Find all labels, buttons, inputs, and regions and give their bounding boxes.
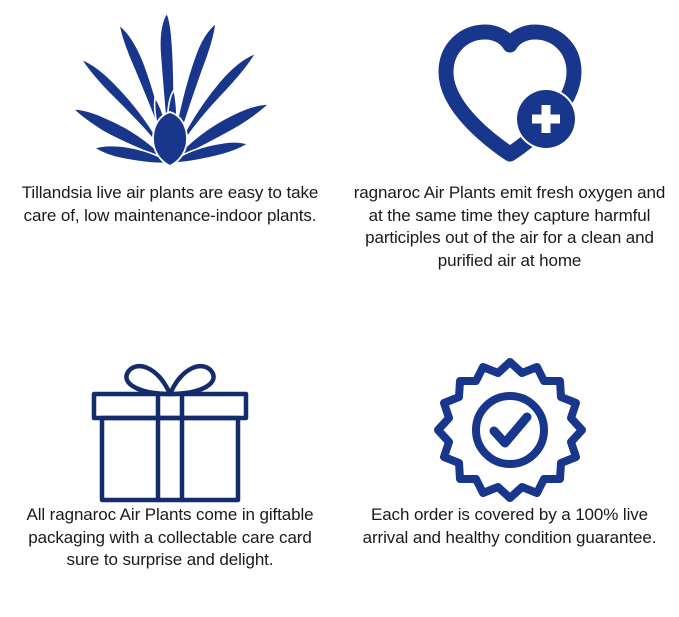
- heart-plus-icon: [430, 0, 590, 182]
- feature-caption: All ragnaroc Air Plants come in giftable…: [15, 504, 325, 572]
- guarantee-badge-icon: [430, 308, 590, 504]
- feature-caption: ragnaroc Air Plants emit fresh oxygen an…: [349, 182, 671, 272]
- feature-caption: Tillandsia live air plants are easy to t…: [4, 182, 336, 227]
- feature-card-guarantee: Each order is covered by a 100% live arr…: [340, 308, 679, 617]
- air-plant-icon: [70, 0, 270, 182]
- gift-box-icon: [80, 308, 260, 504]
- feature-card-air-plant: Tillandsia live air plants are easy to t…: [0, 0, 340, 308]
- feature-card-gift-packaging: All ragnaroc Air Plants come in giftable…: [0, 308, 340, 617]
- feature-grid: Tillandsia live air plants are easy to t…: [0, 0, 679, 617]
- feature-card-air-quality: ragnaroc Air Plants emit fresh oxygen an…: [340, 0, 679, 308]
- feature-caption: Each order is covered by a 100% live arr…: [349, 504, 671, 549]
